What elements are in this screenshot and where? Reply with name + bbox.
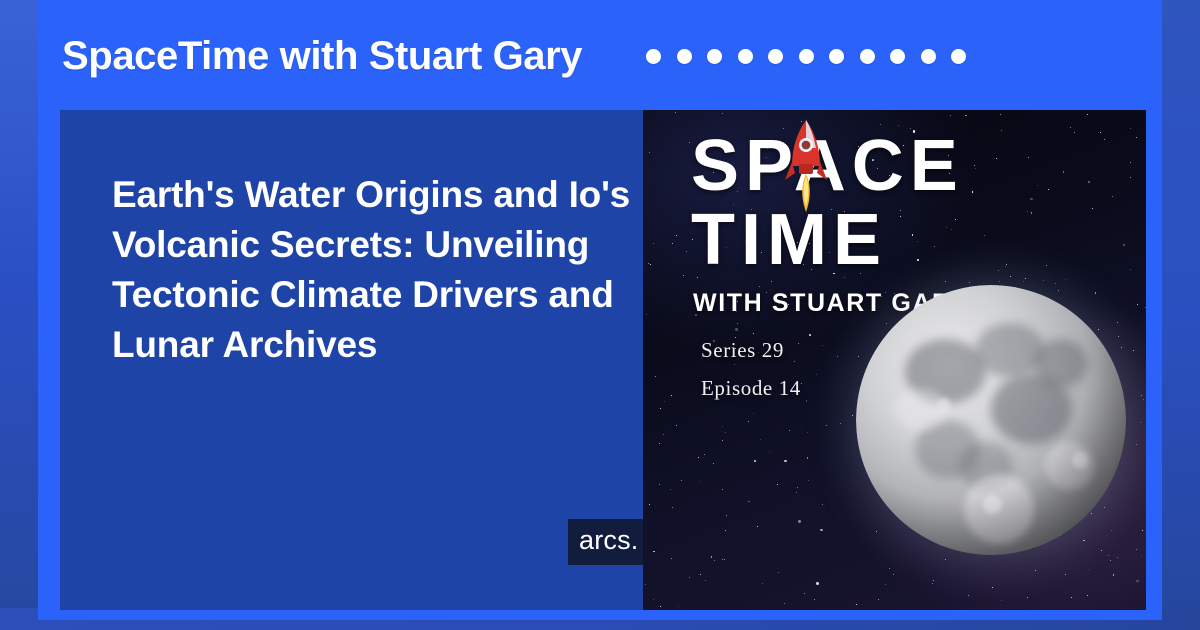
star-icon [725,530,726,531]
cover-wordmark-line2: TIME [691,206,1146,274]
dot-icon [921,49,936,64]
star-icon [1070,127,1071,128]
star-icon [1136,444,1137,445]
star-icon [762,583,763,584]
star-icon [808,480,809,481]
podcast-cover-art: SPACE TIME WITH STUART GARY Series 29 Ep… [643,110,1146,610]
star-icon [671,558,672,559]
dot-icon [799,49,814,64]
star-icon [1101,550,1102,551]
star-icon [700,481,701,482]
star-icon [1130,128,1131,129]
star-icon [876,531,877,532]
dot-icon [646,49,661,64]
star-icon [820,529,822,531]
dot-icon [860,49,875,64]
star-icon [968,595,969,596]
star-icon [796,492,797,493]
episode-card: Earth's Water Origins and Io's Volcanic … [60,110,1146,610]
star-icon [840,423,841,424]
star-icon [659,443,660,444]
star-icon [705,580,706,581]
star-icon [1091,513,1092,514]
star-icon [676,425,677,426]
star-icon [1108,555,1109,556]
star-icon [757,526,758,527]
dot-icon [768,49,783,64]
rocket-icon [783,118,829,214]
star-icon [1111,530,1112,531]
star-icon [878,599,879,600]
dot-icon [890,49,905,64]
star-icon [1089,569,1090,570]
frame-edge-right [1160,0,1200,630]
star-icon [698,457,699,458]
star-icon [725,432,726,433]
star-icon [670,489,671,490]
dot-icon [738,49,753,64]
star-icon [722,426,723,427]
star-icon [760,439,761,440]
star-icon [748,501,750,503]
episode-title: Earth's Water Origins and Io's Volcanic … [112,170,632,370]
star-icon [713,463,714,464]
star-icon [807,457,809,459]
star-icon [722,559,723,560]
star-icon [714,560,715,561]
star-icon [653,551,655,553]
star-icon [885,584,886,585]
star-icon [754,460,756,462]
star-icon [992,587,993,588]
star-icon [1087,114,1088,115]
star-icon [1142,530,1143,531]
star-icon [784,603,785,604]
star-icon [724,559,725,560]
star-icon [660,606,661,607]
star-icon [797,487,798,488]
star-icon [1087,595,1088,596]
star-icon [1027,597,1028,598]
star-icon [889,568,890,569]
star-icon [822,504,823,505]
episode-card-left: Earth's Water Origins and Io's Volcanic … [60,110,643,610]
star-icon [1113,574,1115,576]
star-icon [852,415,853,416]
star-icon [1136,580,1138,582]
star-icon [1141,555,1142,556]
star-icon [789,430,790,431]
star-icon [1117,557,1118,558]
star-icon [777,484,778,485]
star-icon [784,460,786,462]
star-icon [826,425,827,426]
star-icon [748,421,749,422]
star-icon [798,520,800,522]
star-icon [649,504,650,505]
star-icon [945,559,946,560]
star-icon [933,580,934,581]
star-icon [645,584,646,585]
cover-wordmark-line1: SPACE [691,132,1146,200]
star-icon [672,507,673,508]
star-icon [704,454,705,455]
star-icon [711,556,713,558]
star-icon [675,112,676,113]
star-icon [700,574,701,575]
brand-badge: arcs. [568,519,650,565]
frame-edge-left [0,0,40,630]
star-icon [1001,600,1002,601]
star-icon [769,451,770,452]
dot-icon [707,49,722,64]
full-moon-image [856,285,1126,555]
share-card: SpaceTime with Stuart Gary Earth's Water… [0,0,1200,630]
star-icon [1083,540,1085,542]
star-icon [1035,570,1036,571]
star-icon [1001,130,1002,131]
star-icon [1000,114,1001,115]
star-icon [1065,574,1066,575]
star-icon [722,113,724,115]
dot-icon [829,49,844,64]
star-icon [778,572,779,573]
star-icon [893,574,894,575]
star-icon [663,434,664,435]
star-icon [807,432,808,433]
star-icon [681,480,682,481]
star-icon [856,604,857,605]
star-icon [722,489,723,490]
podcast-title: SpaceTime with Stuart Gary [62,36,582,76]
star-icon [816,582,818,584]
dot-separator-icon [646,49,966,64]
star-icon [932,583,933,584]
header: SpaceTime with Stuart Gary [62,22,1152,90]
star-icon [653,599,654,600]
star-icon [678,606,679,607]
star-icon [965,115,967,117]
star-icon [1071,597,1072,598]
star-icon [689,577,690,578]
star-icon [1110,560,1111,561]
dot-icon [951,49,966,64]
dot-icon [677,49,692,64]
star-icon [1140,422,1141,423]
star-icon [804,593,805,594]
star-icon [659,484,660,485]
star-icon [1136,549,1137,550]
star-icon [722,440,723,441]
star-icon [726,515,727,516]
star-icon [950,115,951,116]
star-icon [814,599,815,600]
star-icon [1104,507,1105,508]
